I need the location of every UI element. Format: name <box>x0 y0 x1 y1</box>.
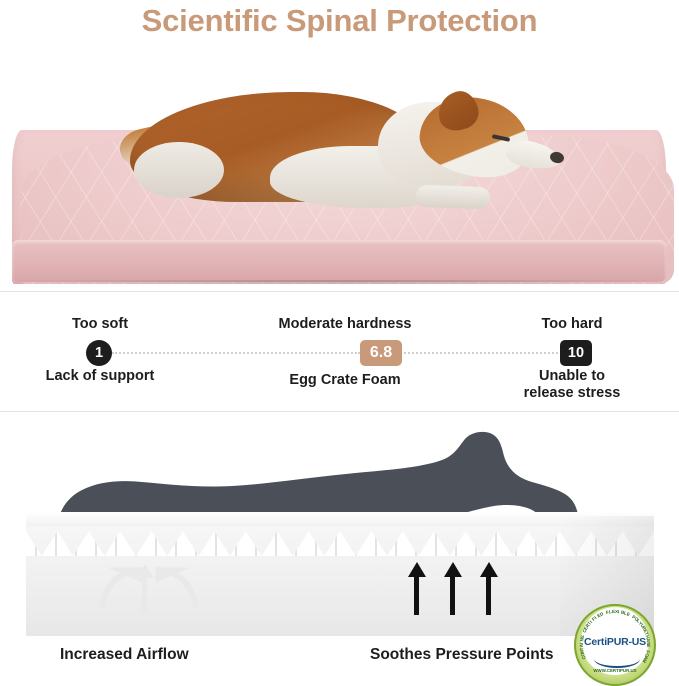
hero-product-photo <box>0 44 679 284</box>
pressure-caption: Soothes Pressure Points <box>370 646 553 664</box>
pressure-arrow-stem-1 <box>414 577 419 615</box>
scale-moderate-bottom-label: Egg Crate Foam <box>250 372 440 389</box>
pressure-arrow-stem-2 <box>450 577 455 615</box>
scale-dotted-line-left <box>112 352 360 354</box>
certipur-ring-text-bottom: WWW.CERTIPUR.US <box>576 668 654 673</box>
certipur-main-text: CertiPUR-US <box>576 636 654 648</box>
airflow-arrow-left-curved <box>92 564 148 616</box>
foam-diagram-section: Increased Airflow Soothes Pressure Point… <box>0 412 679 686</box>
dog-photo-illustration <box>120 58 540 218</box>
pressure-arrow-head-1 <box>408 562 426 577</box>
dog-rump <box>134 142 224 198</box>
airflow-caption: Increased Airflow <box>60 646 189 664</box>
scale-soft-top-label: Too soft <box>20 316 180 333</box>
pressure-arrow-stem-3 <box>486 577 491 615</box>
scale-dotted-line-right <box>400 352 562 354</box>
scale-hard-bottom-label: Unable to release stress <box>492 368 652 402</box>
scale-value-moderate: 6.8 <box>360 340 402 366</box>
dog-front-leg <box>416 185 491 210</box>
bed-side-panel <box>12 240 666 282</box>
certipur-us-badge-icon: CONTAINS CERTIFIED FLEXIBLE POLYURETHANE… <box>574 604 656 686</box>
scale-value-soft: 1 <box>86 340 112 366</box>
scale-value-hard: 10 <box>560 340 592 366</box>
pressure-arrow-head-2 <box>444 562 462 577</box>
scale-soft-bottom-label: Lack of support <box>12 368 188 385</box>
bed-drop-shadow <box>22 280 658 284</box>
scale-hard-bottom-line2: release stress <box>492 385 652 402</box>
certipur-swoosh <box>594 650 640 668</box>
scale-moderate-top-label: Moderate hardness <box>240 316 450 333</box>
hardness-scale-section: Too soft Lack of support Moderate hardne… <box>0 300 679 408</box>
divider-top <box>0 291 679 292</box>
pressure-arrow-head-3 <box>480 562 498 577</box>
scale-hard-top-label: Too hard <box>492 316 652 333</box>
scale-hard-bottom-line1: Unable to <box>492 368 652 385</box>
airflow-arrow-right-curved <box>150 564 206 616</box>
page-title: Scientific Spinal Protection <box>0 0 679 42</box>
